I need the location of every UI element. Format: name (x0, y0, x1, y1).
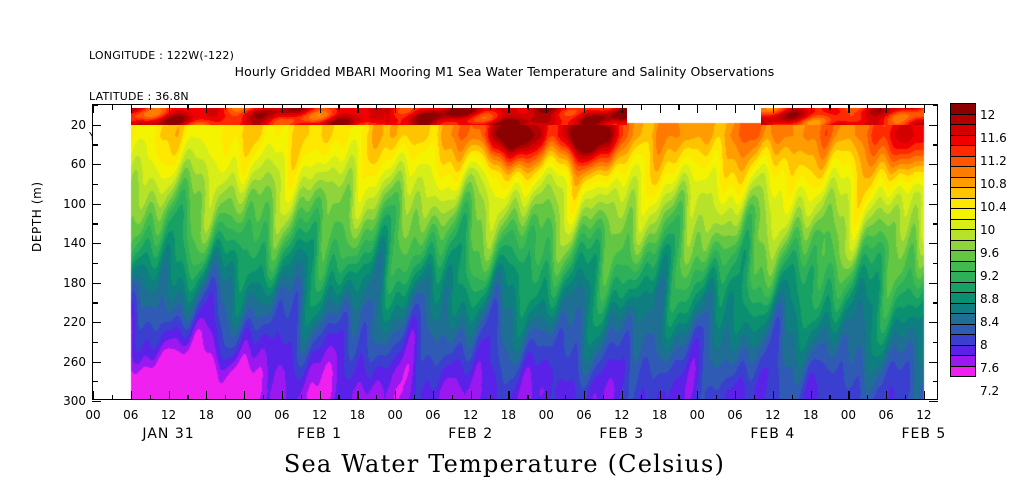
y-axis-tick (933, 105, 939, 106)
y-axis-depth-label: 140 (63, 236, 86, 250)
x-axis-tick (565, 395, 566, 401)
colorbar-tick-label: 12 (980, 108, 995, 122)
x-axis-tick (848, 391, 849, 400)
y-axis-depth-label: 60 (71, 157, 86, 171)
plot-variable-title: Sea Water Temperature (Celsius) (0, 450, 1009, 478)
temperature-contour-field (93, 105, 937, 399)
x-axis-hour-label: 12 (765, 408, 780, 422)
x-axis-tick (282, 104, 283, 113)
x-axis-tick (811, 104, 812, 113)
y-axis-tick (92, 283, 101, 284)
x-axis-tick (282, 391, 283, 400)
x-axis-tick (508, 104, 509, 113)
x-axis-tick (584, 391, 585, 400)
x-axis-tick (773, 391, 774, 400)
y-axis-tick (92, 401, 101, 402)
x-axis-tick (263, 395, 264, 401)
x-axis-tick (357, 104, 358, 113)
x-axis-tick (754, 104, 755, 110)
y-axis-tick (929, 283, 938, 284)
x-axis-tick (678, 395, 679, 401)
x-axis-day-label: FEB 3 (599, 426, 644, 442)
y-axis-depth-label: 260 (63, 355, 86, 369)
y-axis-tick (92, 164, 101, 165)
x-axis-hour-label: 18 (803, 408, 818, 422)
x-axis-tick (546, 104, 547, 113)
y-axis-tick (933, 381, 939, 382)
x-axis-tick (301, 104, 302, 110)
y-axis-tick (92, 204, 101, 205)
y-axis-tick (92, 223, 98, 224)
colorbar-tick-label: 10 (980, 223, 995, 237)
x-axis-tick (131, 391, 132, 400)
x-axis-tick (112, 104, 113, 110)
colorbar-tick-label: 7.2 (980, 384, 999, 398)
y-axis-tick (92, 302, 98, 303)
x-axis-tick (357, 391, 358, 400)
y-axis-tick (929, 204, 938, 205)
x-axis-hour-label: 12 (312, 408, 327, 422)
x-axis-tick (735, 391, 736, 400)
x-axis-tick (641, 395, 642, 401)
x-axis-tick (905, 395, 906, 401)
x-axis-tick (527, 395, 528, 401)
y-axis-tick (929, 322, 938, 323)
x-axis-tick (490, 104, 491, 110)
x-axis-tick (716, 395, 717, 401)
y-axis-tick (92, 263, 98, 264)
x-axis-hour-label: 12 (161, 408, 176, 422)
colorbar-tick-label: 10.4 (980, 200, 1007, 214)
colorbar-tick-label: 10.8 (980, 177, 1007, 191)
x-axis-hour-label: 18 (350, 408, 365, 422)
x-axis-hour-label: 06 (727, 408, 742, 422)
x-axis-tick (433, 104, 434, 113)
x-axis-tick (320, 104, 321, 113)
y-axis-depth-label: 100 (63, 197, 86, 211)
y-axis-title: DEPTH (m) (30, 181, 44, 252)
x-axis-tick (206, 391, 207, 400)
x-axis-tick (471, 391, 472, 400)
x-axis-hour-label: 06 (425, 408, 440, 422)
x-axis-tick (376, 395, 377, 401)
x-axis-hour-label: 00 (85, 408, 100, 422)
y-axis-tick (92, 184, 98, 185)
x-axis-day-label: JAN 31 (142, 426, 194, 442)
x-axis-hour-label: 00 (539, 408, 554, 422)
colorbar-tick-label: 8 (980, 338, 988, 352)
x-axis-tick (527, 104, 528, 110)
x-axis-hour-label: 00 (841, 408, 856, 422)
latitude-text: LATITUDE : 36.8N (89, 90, 234, 104)
x-axis-tick (225, 395, 226, 401)
colorbar-tick-label: 8.4 (980, 315, 999, 329)
x-axis-tick (867, 395, 868, 401)
y-axis-tick (933, 223, 939, 224)
colorbar-tick-label: 9.2 (980, 269, 999, 283)
y-axis-tick (929, 125, 938, 126)
x-axis-tick (452, 395, 453, 401)
x-axis-day-label: FEB 5 (901, 426, 946, 442)
x-axis-tick (754, 395, 755, 401)
x-axis-tick (508, 391, 509, 400)
colorbar-tick-label: 11.6 (980, 131, 1007, 145)
x-axis-tick (565, 104, 566, 110)
x-axis-tick (150, 395, 151, 401)
x-axis-tick (225, 104, 226, 110)
x-axis-tick (546, 391, 547, 400)
y-axis-tick (92, 243, 101, 244)
x-axis-hour-label: 06 (576, 408, 591, 422)
x-axis-hour-label: 12 (614, 408, 629, 422)
x-axis-tick (376, 104, 377, 110)
x-axis-tick (924, 104, 925, 113)
x-axis-hour-label: 00 (388, 408, 403, 422)
x-axis-tick (622, 104, 623, 113)
y-axis-tick (92, 144, 98, 145)
x-axis-tick (112, 395, 113, 401)
x-axis-tick (244, 391, 245, 400)
x-axis-tick (886, 104, 887, 113)
y-axis-tick (933, 302, 939, 303)
contour-plot-frame: 2060100140180220260300 00061218000612180… (92, 104, 938, 400)
y-axis-depth-label: 220 (63, 315, 86, 329)
x-axis-tick (471, 104, 472, 113)
x-axis-tick (338, 395, 339, 401)
x-axis-hour-label: 18 (501, 408, 516, 422)
x-axis-tick (716, 104, 717, 110)
y-axis-tick (929, 164, 938, 165)
x-axis-day-label: FEB 2 (448, 426, 493, 442)
y-axis-tick (933, 144, 939, 145)
x-axis-tick (301, 395, 302, 401)
x-axis-tick (452, 104, 453, 110)
x-axis-tick (263, 104, 264, 110)
y-axis-tick (929, 243, 938, 244)
colorbar-tick-label: 11.2 (980, 154, 1007, 168)
x-axis-hour-label: 18 (652, 408, 667, 422)
x-axis-tick (811, 391, 812, 400)
x-axis-tick (338, 104, 339, 110)
x-axis-tick (735, 104, 736, 113)
colorbar-tick-label: 8.8 (980, 292, 999, 306)
x-axis-tick (490, 395, 491, 401)
x-axis-tick (169, 104, 170, 113)
x-axis-tick (395, 391, 396, 400)
y-axis-tick (929, 362, 938, 363)
colorbar-tick-label: 9.6 (980, 246, 999, 260)
longitude-text: LONGITUDE : 122W(-122) (89, 49, 234, 63)
surface-ribbon-segment (761, 108, 924, 125)
surface-ribbon-segment (385, 108, 627, 125)
colorbar-band (950, 366, 976, 378)
x-axis-tick (320, 391, 321, 400)
x-axis-tick (848, 104, 849, 113)
x-axis-tick (660, 104, 661, 113)
x-axis-tick (244, 104, 245, 113)
y-axis-tick (933, 184, 939, 185)
x-axis-hour-label: 06 (123, 408, 138, 422)
chart-title: Hourly Gridded MBARI Mooring M1 Sea Wate… (0, 64, 1009, 79)
x-axis-tick (603, 104, 604, 110)
x-axis-tick (660, 391, 661, 400)
x-axis-tick (622, 391, 623, 400)
y-axis-tick (92, 381, 98, 382)
x-axis-tick (829, 395, 830, 401)
x-axis-tick (829, 104, 830, 110)
x-axis-tick (433, 391, 434, 400)
x-axis-tick (414, 395, 415, 401)
x-axis-hour-label: 12 (463, 408, 478, 422)
y-axis-tick (92, 342, 98, 343)
y-axis-tick (933, 263, 939, 264)
x-axis-tick (924, 391, 925, 400)
y-axis-tick (92, 105, 98, 106)
x-axis-tick (773, 104, 774, 113)
x-axis-tick (187, 395, 188, 401)
x-axis-tick (678, 104, 679, 110)
x-axis-hour-label: 06 (274, 408, 289, 422)
x-axis-tick (905, 104, 906, 110)
y-axis-depth-label: 300 (63, 394, 86, 408)
y-axis-tick (92, 362, 101, 363)
x-axis-tick (792, 395, 793, 401)
y-axis-tick (933, 342, 939, 343)
x-axis-tick (414, 104, 415, 110)
y-axis-tick (929, 401, 938, 402)
x-axis-tick (697, 391, 698, 400)
x-axis-tick (584, 104, 585, 113)
x-axis-tick (867, 104, 868, 110)
colorbar-tick-label: 7.6 (980, 361, 999, 375)
contour-plot-canvas (93, 105, 937, 399)
x-axis-tick (603, 395, 604, 401)
y-axis-depth-label: 20 (71, 118, 86, 132)
x-axis-tick (131, 104, 132, 113)
x-axis-tick (792, 104, 793, 110)
x-axis-hour-label: 12 (916, 408, 931, 422)
x-axis-tick (395, 104, 396, 113)
x-axis-tick (697, 104, 698, 113)
x-axis-hour-label: 18 (199, 408, 214, 422)
x-axis-hour-label: 00 (690, 408, 705, 422)
x-axis-hour-label: 00 (236, 408, 251, 422)
x-axis-tick (93, 391, 94, 400)
x-axis-tick (150, 104, 151, 110)
x-axis-day-label: FEB 4 (750, 426, 795, 442)
x-axis-tick (206, 104, 207, 113)
x-axis-day-label: FEB 1 (297, 426, 342, 442)
x-axis-tick (641, 104, 642, 110)
x-axis-hour-label: 06 (878, 408, 893, 422)
x-axis-tick (187, 104, 188, 110)
colorbar: 1211.611.210.810.4109.69.28.88.487.67.2 (950, 104, 976, 377)
y-axis-tick (92, 322, 101, 323)
y-axis-depth-label: 180 (63, 276, 86, 290)
x-axis-tick (169, 391, 170, 400)
x-axis-tick (886, 391, 887, 400)
y-axis-tick (92, 125, 101, 126)
